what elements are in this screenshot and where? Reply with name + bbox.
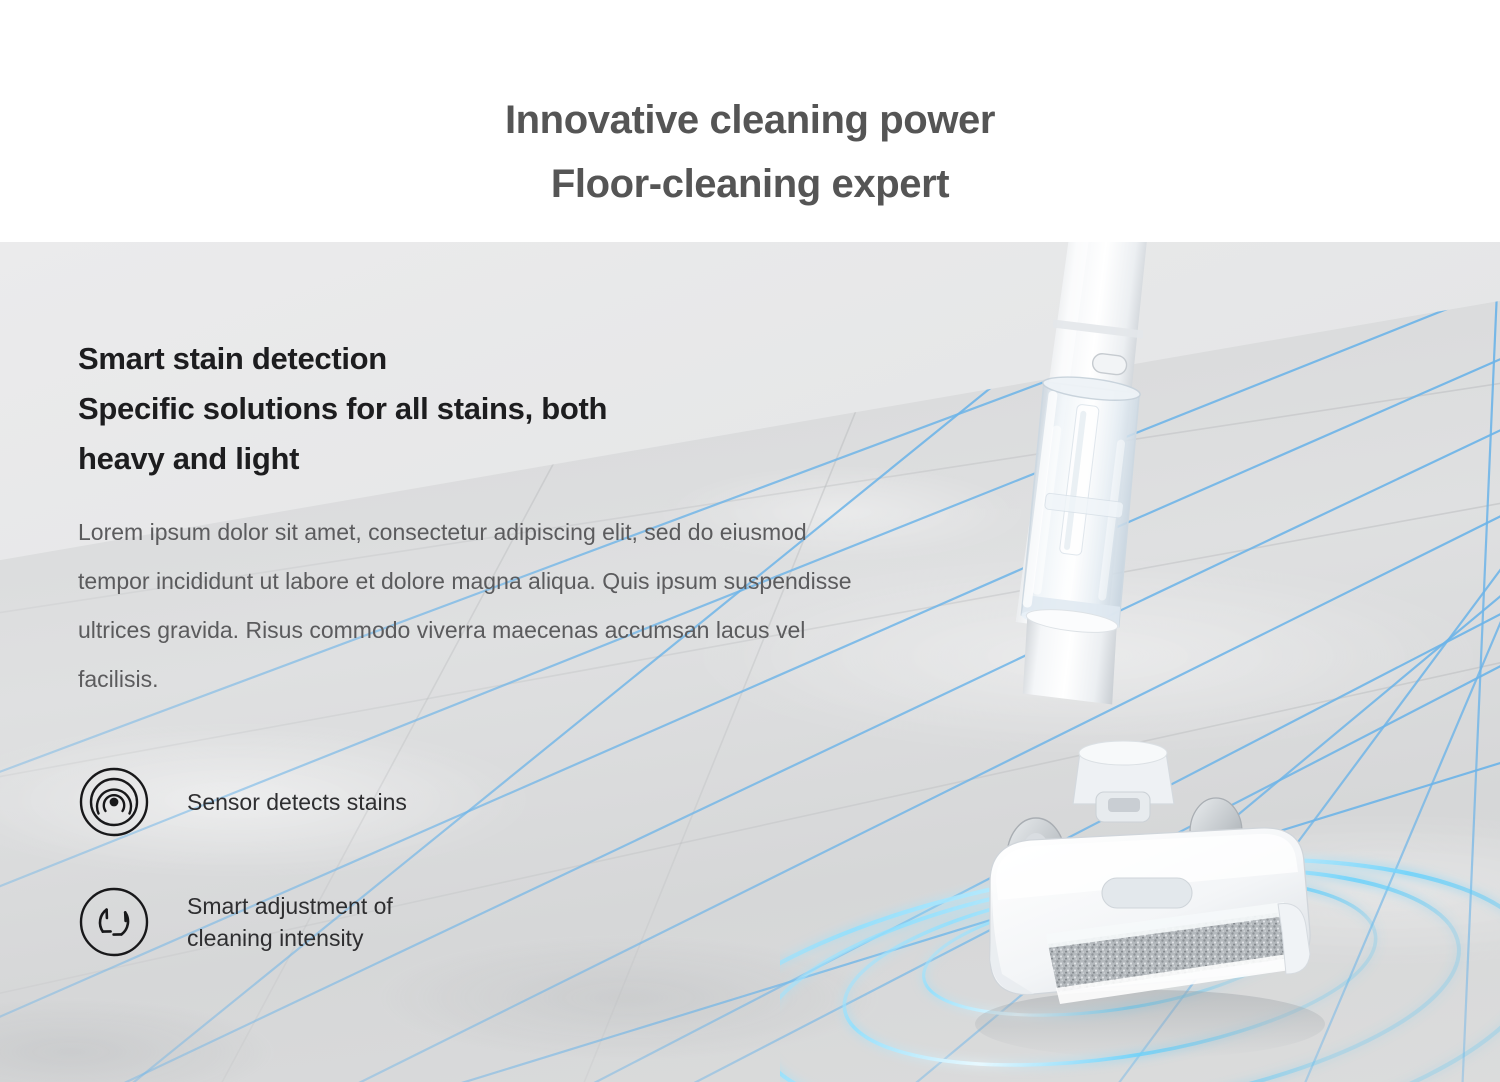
product-feature-page: Innovative cleaning power Floor-cleaning… [0, 0, 1500, 1082]
headline-line-1: Smart stain detection [78, 334, 898, 384]
headline-line-2: Specific solutions for all stains, both [78, 384, 898, 434]
feature-content-block: Smart stain detection Specific solutions… [78, 334, 898, 1006]
section-headline: Smart stain detection Specific solutions… [78, 334, 898, 484]
banner-title-line-1: Innovative cleaning power [505, 88, 995, 152]
feature-label-sensor: Sensor detects stains [187, 786, 407, 818]
feature-label-smart-adjustment: Smart adjustment of cleaning intensity [187, 890, 393, 954]
top-banner: Innovative cleaning power Floor-cleaning… [0, 0, 1500, 242]
feature-label-sensor-line-1: Sensor detects stains [187, 786, 407, 818]
sensor-radar-icon [78, 766, 150, 838]
headline-line-3: heavy and light [78, 434, 898, 484]
banner-title-line-2: Floor-cleaning expert [551, 152, 949, 216]
feature-item-smart-adjustment: Smart adjustment of cleaning intensity [78, 886, 898, 958]
feature-label-smart-adjustment-line-2: cleaning intensity [187, 922, 393, 954]
feature-label-smart-adjustment-line-1: Smart adjustment of [187, 890, 393, 922]
section-body-text: Lorem ipsum dolor sit amet, consectetur … [78, 508, 878, 704]
vacuum-cleaner-product-image [930, 242, 1410, 1082]
feature-list: Sensor detects stains Smart adjustment o… [78, 766, 898, 958]
feature-item-sensor: Sensor detects stains [78, 766, 898, 838]
refresh-cycle-icon [78, 886, 150, 958]
